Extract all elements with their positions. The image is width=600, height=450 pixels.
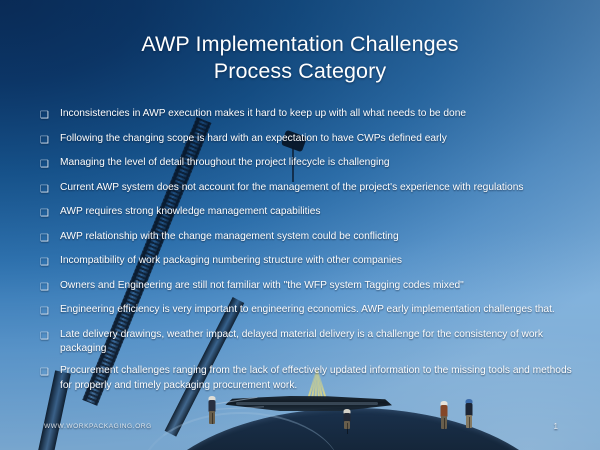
list-item-text: Inconsistencies in AWP execution makes i…: [60, 107, 578, 121]
bullet-square-icon: ❑: [40, 156, 60, 172]
slide-content: AWP Implementation Challenges Process Ca…: [0, 0, 600, 450]
bullet-square-icon: ❑: [40, 279, 60, 295]
list-item-text: AWP requires strong knowledge management…: [60, 205, 578, 219]
title-line-2: Process Category: [0, 58, 600, 85]
slide-title: AWP Implementation Challenges Process Ca…: [0, 31, 600, 85]
bullet-square-icon: ❑: [40, 132, 60, 148]
bullet-list: ❑ Inconsistencies in AWP execution makes…: [40, 107, 578, 401]
list-item-text: Engineering efficiency is very important…: [60, 303, 578, 317]
title-line-1: AWP Implementation Challenges: [0, 31, 600, 58]
list-item-text: Following the changing scope is hard wit…: [60, 132, 578, 146]
list-item: ❑ Procurement challenges ranging from th…: [40, 364, 578, 392]
footer-website-url: WWW.WORKPACKAGING.ORG: [44, 423, 152, 430]
list-item-text: Current AWP system does not account for …: [60, 181, 578, 195]
list-item: ❑ Following the changing scope is hard w…: [40, 132, 578, 148]
list-item: ❑ Managing the level of detail throughou…: [40, 156, 578, 172]
bullet-square-icon: ❑: [40, 254, 60, 270]
list-item: ❑ Incompatibility of work packaging numb…: [40, 254, 578, 270]
bullet-square-icon: ❑: [40, 303, 60, 319]
bullet-square-icon: ❑: [40, 230, 60, 246]
bullet-square-icon: ❑: [40, 364, 60, 380]
list-item-text: Owners and Engineering are still not fam…: [60, 279, 578, 293]
list-item-text: Incompatibility of work packaging number…: [60, 254, 578, 268]
presentation-slide: AWP Implementation Challenges Process Ca…: [0, 0, 600, 450]
list-item-text: Procurement challenges ranging from the …: [60, 364, 578, 392]
bullet-square-icon: ❑: [40, 181, 60, 197]
list-item: ❑ AWP requires strong knowledge manageme…: [40, 205, 578, 221]
list-item: ❑ Owners and Engineering are still not f…: [40, 279, 578, 295]
list-item: ❑ Inconsistencies in AWP execution makes…: [40, 107, 578, 123]
slide-page-number: 1: [554, 422, 558, 431]
list-item-text: Managing the level of detail throughout …: [60, 156, 578, 170]
bullet-square-icon: ❑: [40, 205, 60, 221]
list-item: ❑ Engineering efficiency is very importa…: [40, 303, 578, 319]
list-item-text: Late delivery drawings, weather impact, …: [60, 328, 578, 356]
list-item-text: AWP relationship with the change managem…: [60, 230, 578, 244]
list-item: ❑ Current AWP system does not account fo…: [40, 181, 578, 197]
bullet-square-icon: ❑: [40, 328, 60, 344]
bullet-square-icon: ❑: [40, 107, 60, 123]
list-item: ❑ Late delivery drawings, weather impact…: [40, 328, 578, 356]
list-item: ❑ AWP relationship with the change manag…: [40, 230, 578, 246]
